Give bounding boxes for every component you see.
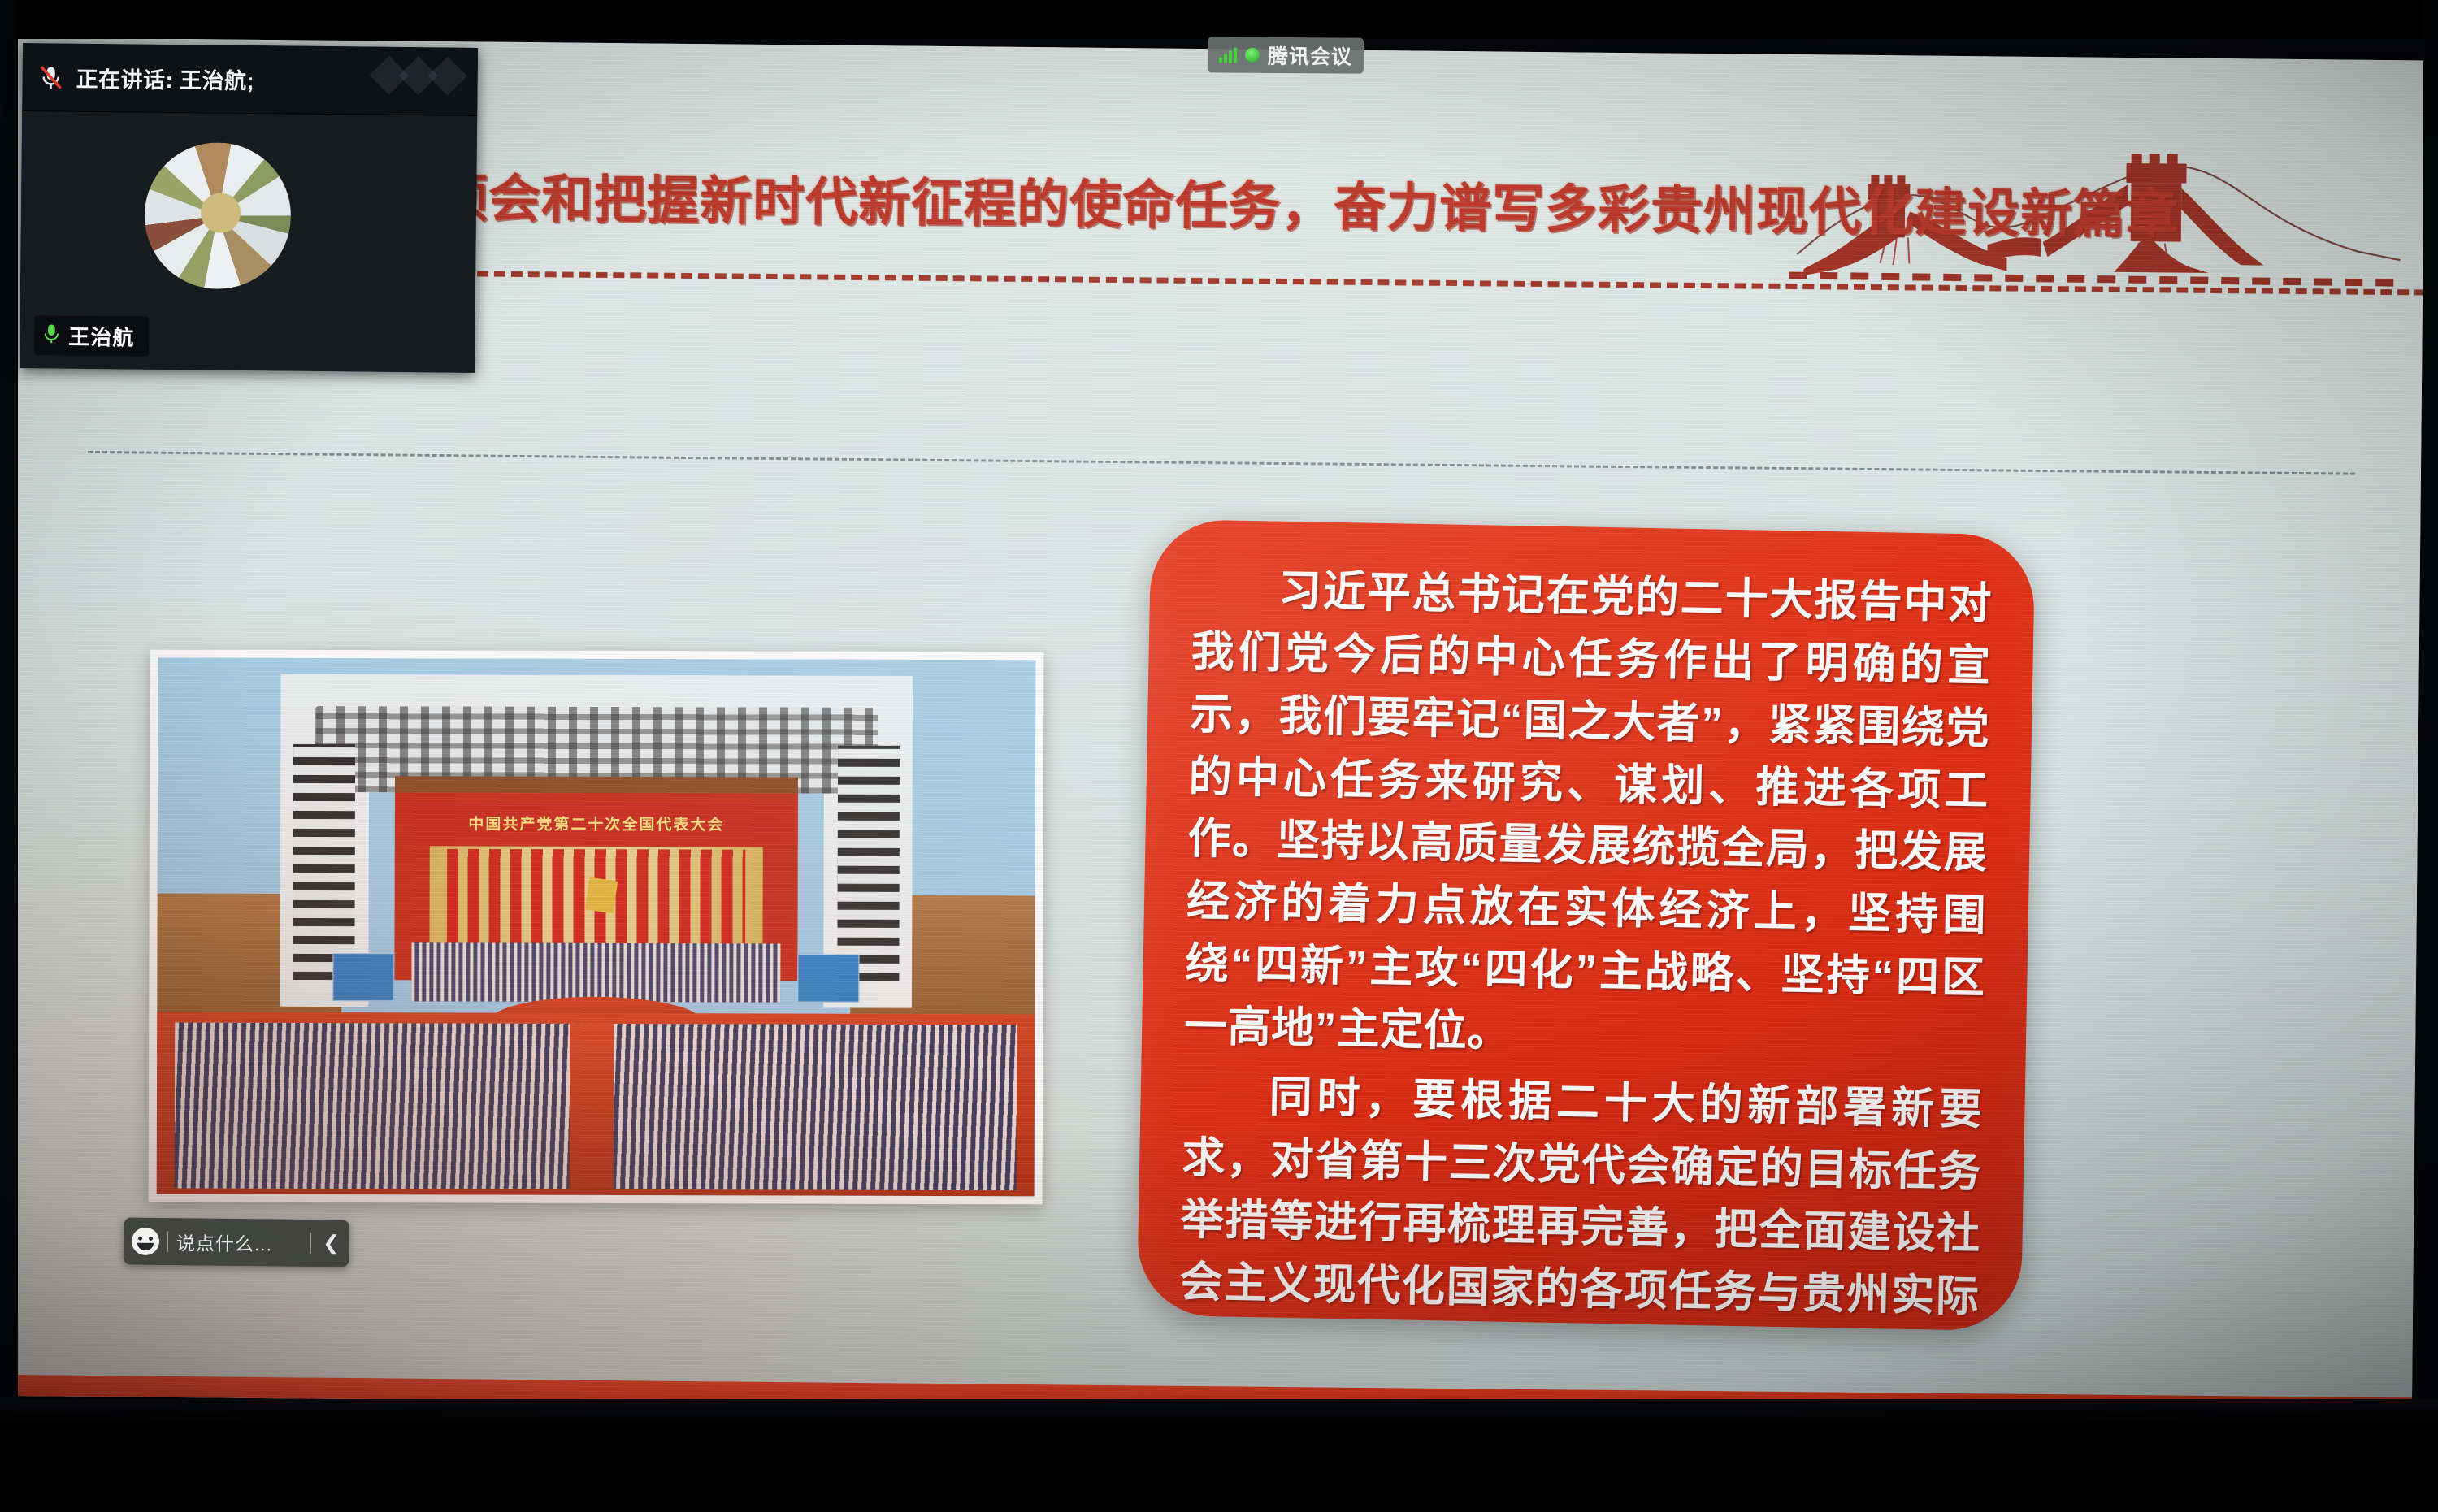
congress-banner: 中国共产党第二十次全国代表大会	[408, 803, 786, 844]
participant-name-chip: 王治航	[34, 315, 150, 356]
monitor-bezel-right	[2423, 0, 2438, 1427]
emoji-smiley-icon[interactable]	[132, 1228, 159, 1255]
projected-screen-photo: 领会和把握新时代新征程的使命任务，奋力谱写多彩贵州现代化建设新篇章 中国共产党第…	[0, 0, 2438, 1427]
hall-side-screen-left	[332, 953, 394, 1002]
video-panel-body: 王治航	[20, 111, 477, 373]
chevron-left-icon[interactable]: ❮	[319, 1231, 341, 1255]
microphone-active-icon	[42, 323, 60, 348]
active-speaker-label: 正在讲话: 王治航;	[76, 62, 254, 95]
slide-title: 领会和把握新时代新征程的使命任务，奋力谱写多彩贵州现代化建设新篇章	[436, 157, 2086, 247]
video-thumbnail-panel[interactable]: 正在讲话: 王治航; 王治航	[20, 43, 478, 373]
hall-side-screen-right	[798, 955, 860, 1003]
chat-input-placeholder[interactable]: 说点什么...	[176, 1228, 302, 1257]
slide-paragraph-1: 习近平总书记在党的二十大报告中对我们党今后的中心任务作出了明确的宣示，我们要牢记…	[1184, 559, 1993, 1073]
divider	[310, 1233, 311, 1254]
diamond-watermark-icon	[375, 62, 462, 90]
meeting-app-name: 腾讯会议	[1268, 41, 1352, 71]
monitor-bezel-left	[0, 0, 18, 1427]
monitor-bezel-bottom	[0, 1399, 2438, 1427]
divider	[167, 1231, 168, 1252]
slide-paragraph-2: 同时，要根据二十大的新部署新要求，对省第十三次党代会确定的目标任务举措等进行再梳…	[1177, 1064, 1983, 1331]
green-status-dot-icon	[1245, 48, 1260, 63]
signal-bars-icon	[1219, 46, 1237, 63]
microphone-muted-icon	[37, 63, 64, 91]
great-hall-congress-photo: 中国共产党第二十次全国代表大会	[149, 649, 1044, 1204]
chat-input-bar[interactable]: 说点什么... ❮	[124, 1218, 350, 1267]
slide-text-panel: 习近平总书记在党的二十大报告中对我们党今后的中心任务作出了明确的宣示，我们要牢记…	[1137, 519, 2036, 1332]
monitor-bezel-top	[0, 0, 2438, 39]
tencent-meeting-indicator[interactable]: 腾讯会议	[1208, 37, 1364, 73]
participant-avatar	[144, 142, 292, 290]
video-panel-header: 正在讲话: 王治航;	[22, 43, 478, 116]
participant-name-label: 王治航	[68, 321, 134, 352]
congress-banner-text: 中国共产党第二十次全国代表大会	[468, 812, 724, 835]
